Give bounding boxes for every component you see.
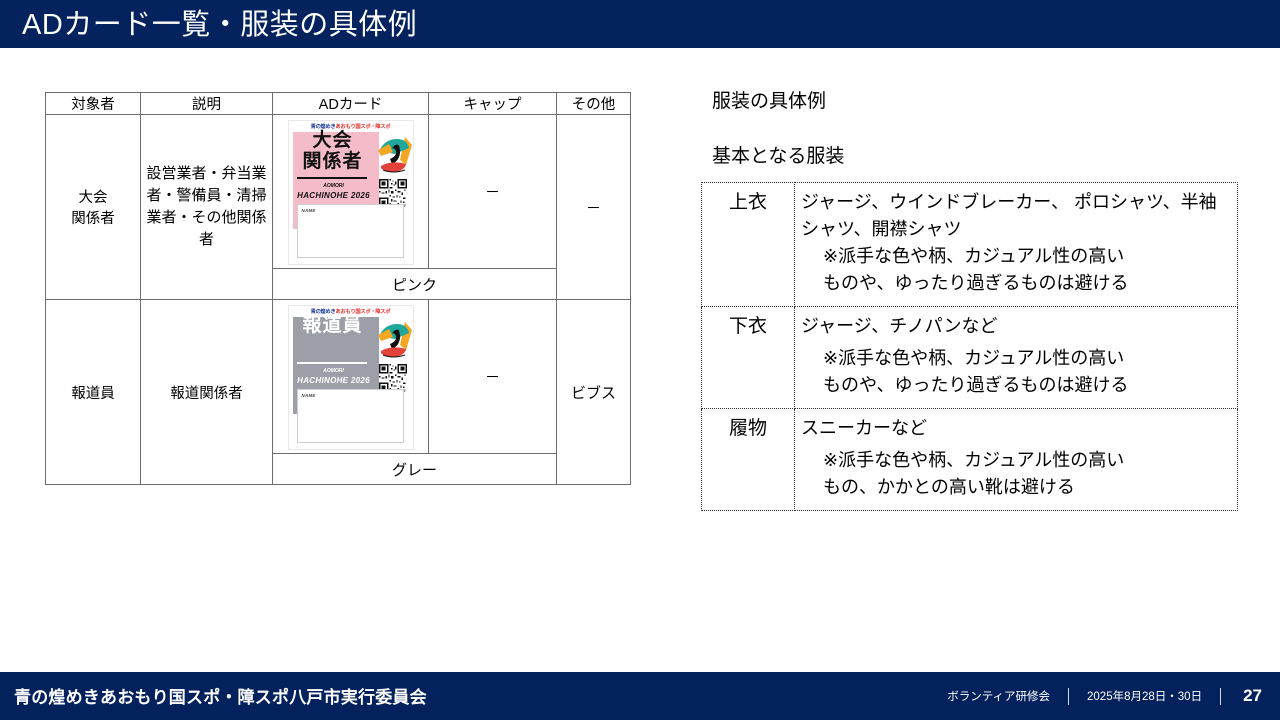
- page-title: ADカード一覧・服装の具体例: [22, 6, 417, 44]
- card-subtitle: AOMORI HACHINOHE 2026: [297, 367, 371, 385]
- clothing-line: スニーカーなど: [801, 418, 927, 438]
- column-header-target: 対象者: [46, 93, 141, 115]
- footer-event: ボランティア研修会: [929, 688, 1068, 704]
- table-header-row: 対象者 説明 ADカード キャップ その他: [46, 93, 631, 115]
- card-subtitle: AOMORI HACHINOHE 2026: [297, 182, 371, 200]
- column-header-other: その他: [557, 93, 631, 115]
- clothing-note: ※派手な色や柄、カジュアル性の高い: [801, 447, 1233, 474]
- card-role-line: 報道員: [296, 315, 370, 336]
- cell-clothing-value: スニーカーなど ※派手な色や柄、カジュアル性の高い もの、かかとの高い靴は避ける: [795, 409, 1238, 511]
- ad-card-image: 青の煌めきあおもり国スポ・障スポ 報道員 AOMORI HACHINOHE 20…: [289, 306, 413, 449]
- cell-description: 設営業者・弁当業者・警備員・清掃業者・その他関係者: [141, 115, 273, 300]
- table-row: 上衣 ジャージ、ウインドブレーカー、 ポロシャツ、半袖シャツ、開襟シャツ ※派手…: [702, 183, 1238, 307]
- table-row: 報道員 報道関係者 青の煌めきあおもり国スポ・障スポ 報道員 AOMORI HA…: [46, 300, 631, 454]
- cell-adcard: 青の煌めきあおもり国スポ・障スポ 報道員 AOMORI HACHINOHE 20…: [273, 300, 429, 454]
- clothing-note: ※派手な色や柄、カジュアル性の高い: [801, 345, 1233, 372]
- footer-meta: ボランティア研修会 2025年8月28日・30日 27: [929, 686, 1266, 706]
- ad-card-image: 青の煌めきあおもり国スポ・障スポ 大会 関係者 AOMORI HACHINOHE…: [289, 121, 413, 264]
- card-sub-line2: HACHINOHE 2026: [297, 191, 371, 200]
- cell-target: 大会 関係者: [46, 115, 141, 300]
- footer-date: 2025年8月28日・30日: [1069, 688, 1220, 704]
- qr-code-icon: [379, 364, 407, 392]
- cell-clothing-key: 上衣: [702, 183, 795, 307]
- card-role-text: 報道員: [296, 315, 370, 336]
- card-divider-rule: [297, 362, 367, 364]
- column-header-description: 説明: [141, 93, 273, 115]
- qr-code-icon: [379, 179, 407, 207]
- cell-other: －: [557, 115, 631, 300]
- card-sub-line1: AOMORI: [297, 182, 371, 191]
- card-role-line: 関係者: [296, 151, 370, 172]
- cell-description: 報道関係者: [141, 300, 273, 485]
- footer-organization: 青の煌めきあおもり国スポ・障スポ八戸市実行委員会: [14, 683, 427, 708]
- mascot-icon: [375, 134, 413, 179]
- card-role-line: 大会: [296, 130, 370, 151]
- slide: ADカード一覧・服装の具体例 対象者 説明 ADカード キャップ その他 大会 …: [0, 0, 1280, 720]
- card-divider-rule: [297, 177, 367, 179]
- card-name-label: NAME: [302, 208, 316, 213]
- mascot-icon: [375, 319, 413, 364]
- table-row: 履物 スニーカーなど ※派手な色や柄、カジュアル性の高い もの、かかとの高い靴は…: [702, 409, 1238, 511]
- footer-divider: [1068, 688, 1069, 705]
- card-band-blue-text: 青の煌めき: [311, 308, 336, 315]
- target-line: 関係者: [46, 207, 140, 228]
- card-name-label: NAME: [302, 393, 316, 398]
- cell-clothing-value: ジャージ、ウインドブレーカー、 ポロシャツ、半袖シャツ、開襟シャツ ※派手な色や…: [795, 183, 1238, 307]
- cell-other: ビブス: [557, 300, 631, 485]
- cell-target: 報道員: [46, 300, 141, 485]
- table-row: 大会 関係者 設営業者・弁当業者・警備員・清掃業者・その他関係者 青の煌めきあお…: [46, 115, 631, 269]
- table-row: 下衣 ジャージ、チノパンなど ※派手な色や柄、カジュアル性の高い ものや、ゆった…: [702, 307, 1238, 409]
- cell-clothing-value: ジャージ、チノパンなど ※派手な色や柄、カジュアル性の高い ものや、ゆったり過ぎ…: [795, 307, 1238, 409]
- card-band-red-text: あおもり国スポ・障スポ: [336, 308, 391, 315]
- clothing-line: ジャージ、チノパンなど: [801, 316, 998, 336]
- footer-divider: [1220, 688, 1221, 705]
- cell-color-label: グレー: [273, 454, 557, 485]
- cell-color-label: ピンク: [273, 269, 557, 300]
- cell-adcard: 青の煌めきあおもり国スポ・障スポ 大会 関係者 AOMORI HACHINOHE…: [273, 115, 429, 269]
- cell-cap: －: [429, 300, 557, 454]
- clothing-note: ※派手な色や柄、カジュアル性の高い: [801, 243, 1233, 270]
- card-name-field: NAME: [297, 389, 404, 443]
- cell-clothing-key: 履物: [702, 409, 795, 511]
- clothing-note: もの、かかとの高い靴は避ける: [801, 474, 1233, 501]
- card-band-blue-text: 青の煌めき: [311, 123, 336, 130]
- card-band-red-text: あおもり国スポ・障スポ: [336, 123, 391, 130]
- clothing-note: ものや、ゆったり過ぎるものは避ける: [801, 372, 1233, 399]
- card-sub-line2: HACHINOHE 2026: [297, 376, 371, 385]
- clothing-table: 上衣 ジャージ、ウインドブレーカー、 ポロシャツ、半袖シャツ、開襟シャツ ※派手…: [701, 182, 1238, 511]
- right-panel-title: 服装の具体例: [712, 89, 826, 115]
- page-number: 27: [1221, 686, 1266, 706]
- target-line: 大会: [46, 186, 140, 207]
- right-panel-subtitle: 基本となる服装: [712, 144, 844, 170]
- column-header-adcard: ADカード: [273, 93, 429, 115]
- ad-card-table: 対象者 説明 ADカード キャップ その他 大会 関係者 設営業者・弁当業者・警…: [45, 92, 631, 485]
- cell-clothing-key: 下衣: [702, 307, 795, 409]
- card-role-text: 大会 関係者: [296, 130, 370, 172]
- card-name-field: NAME: [297, 204, 404, 258]
- clothing-line: ジャージ、ウインドブレーカー、: [801, 192, 1069, 212]
- cell-cap: －: [429, 115, 557, 269]
- clothing-note: ものや、ゆったり過ぎるものは避ける: [801, 270, 1233, 297]
- card-sub-line1: AOMORI: [297, 367, 371, 376]
- column-header-cap: キャップ: [429, 93, 557, 115]
